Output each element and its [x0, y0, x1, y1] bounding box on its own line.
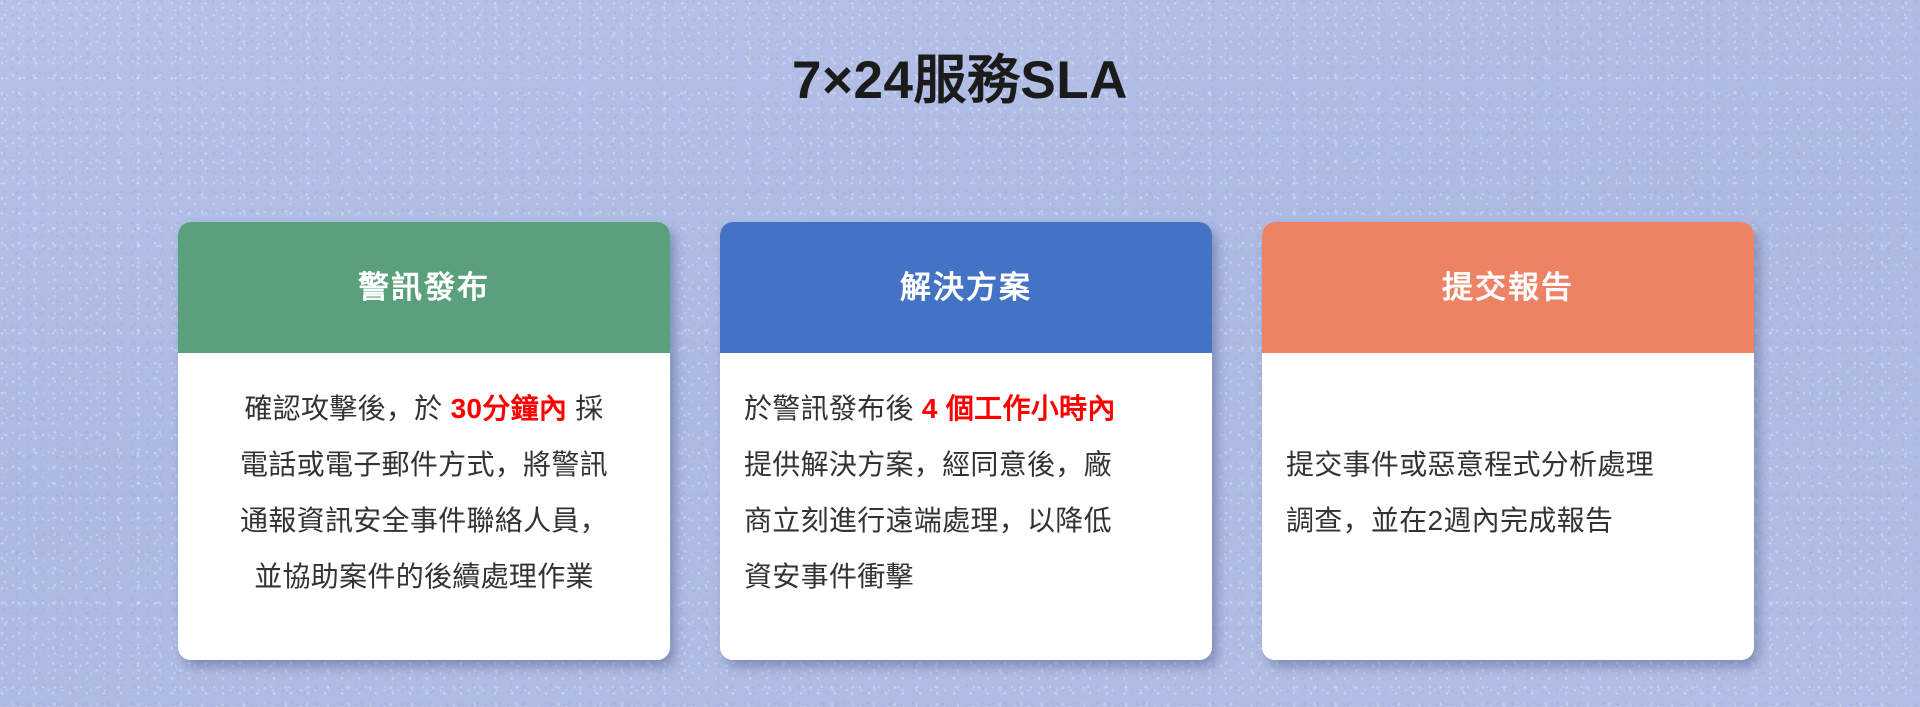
card-body-line: 商立刻進行遠端處理，以降低 [742, 493, 1190, 549]
card-body-report-submission: 提交事件或惡意程式分析處理調查，並在2週內完成報告 [1262, 353, 1754, 660]
body-text-segment: 商立刻進行遠端處理，以降低 [744, 505, 1112, 536]
highlighted-sla-term: 4 個工作小時內 [922, 393, 1116, 424]
card-header-title: 警訊發布 [358, 272, 490, 303]
card-body-line: 提供解決方案，經同意後，廠 [742, 437, 1190, 493]
card-header-title: 解決方案 [900, 272, 1032, 303]
card-header-alert-publication: 警訊發布 [178, 222, 670, 353]
card-header-report-submission: 提交報告 [1262, 222, 1754, 353]
body-text-segment: 電話或電子郵件方式，將警訊 [240, 449, 608, 480]
card-header-solution: 解決方案 [720, 222, 1212, 353]
sla-card-alert-publication: 警訊發布確認攻擊後，於 30分鐘內 採電話或電子郵件方式，將警訊通報資訊安全事件… [178, 222, 670, 660]
card-body-line: 確認攻擊後，於 30分鐘內 採 [200, 381, 648, 437]
body-text-segment: 採 [567, 393, 603, 424]
card-body-solution: 於警訊發布後 4 個工作小時內提供解決方案，經同意後，廠商立刻進行遠端處理，以降… [720, 353, 1212, 660]
card-body-line: 提交事件或惡意程式分析處理 [1284, 437, 1732, 493]
card-body-line: 通報資訊安全事件聯絡人員， [200, 493, 648, 549]
body-text-segment: 資安事件衝擊 [744, 561, 914, 592]
card-body-line: 資安事件衝擊 [742, 549, 1190, 605]
body-text-segment: 提交事件或惡意程式分析處理 [1286, 449, 1654, 480]
sla-card-solution: 解決方案於警訊發布後 4 個工作小時內提供解決方案，經同意後，廠商立刻進行遠端處… [720, 222, 1212, 660]
body-text-segment: 於警訊發布後 [744, 393, 922, 424]
card-body-alert-publication: 確認攻擊後，於 30分鐘內 採電話或電子郵件方式，將警訊通報資訊安全事件聯絡人員… [178, 353, 670, 660]
page-title: 7×24服務SLA [792, 54, 1128, 107]
card-body-line: 並協助案件的後續處理作業 [200, 549, 648, 605]
body-text-segment: 並協助案件的後續處理作業 [254, 561, 594, 592]
card-body-line: 電話或電子郵件方式，將警訊 [200, 437, 648, 493]
body-text-segment: 通報資訊安全事件聯絡人員， [240, 505, 608, 536]
card-header-title: 提交報告 [1442, 272, 1574, 303]
highlighted-sla-term: 30分鐘內 [451, 393, 568, 424]
sla-cards-row: 警訊發布確認攻擊後，於 30分鐘內 採電話或電子郵件方式，將警訊通報資訊安全事件… [178, 222, 1754, 662]
card-body-line: 調查，並在2週內完成報告 [1284, 493, 1732, 549]
body-text-segment: 確認攻擊後，於 [244, 393, 450, 424]
body-text-segment: 提供解決方案，經同意後，廠 [744, 449, 1112, 480]
body-text-segment: 調查，並在2週內完成報告 [1286, 505, 1613, 536]
sla-card-report-submission: 提交報告提交事件或惡意程式分析處理調查，並在2週內完成報告 [1262, 222, 1754, 660]
card-body-line: 於警訊發布後 4 個工作小時內 [742, 381, 1190, 437]
title-area: 7×24服務SLA [0, 0, 1920, 160]
